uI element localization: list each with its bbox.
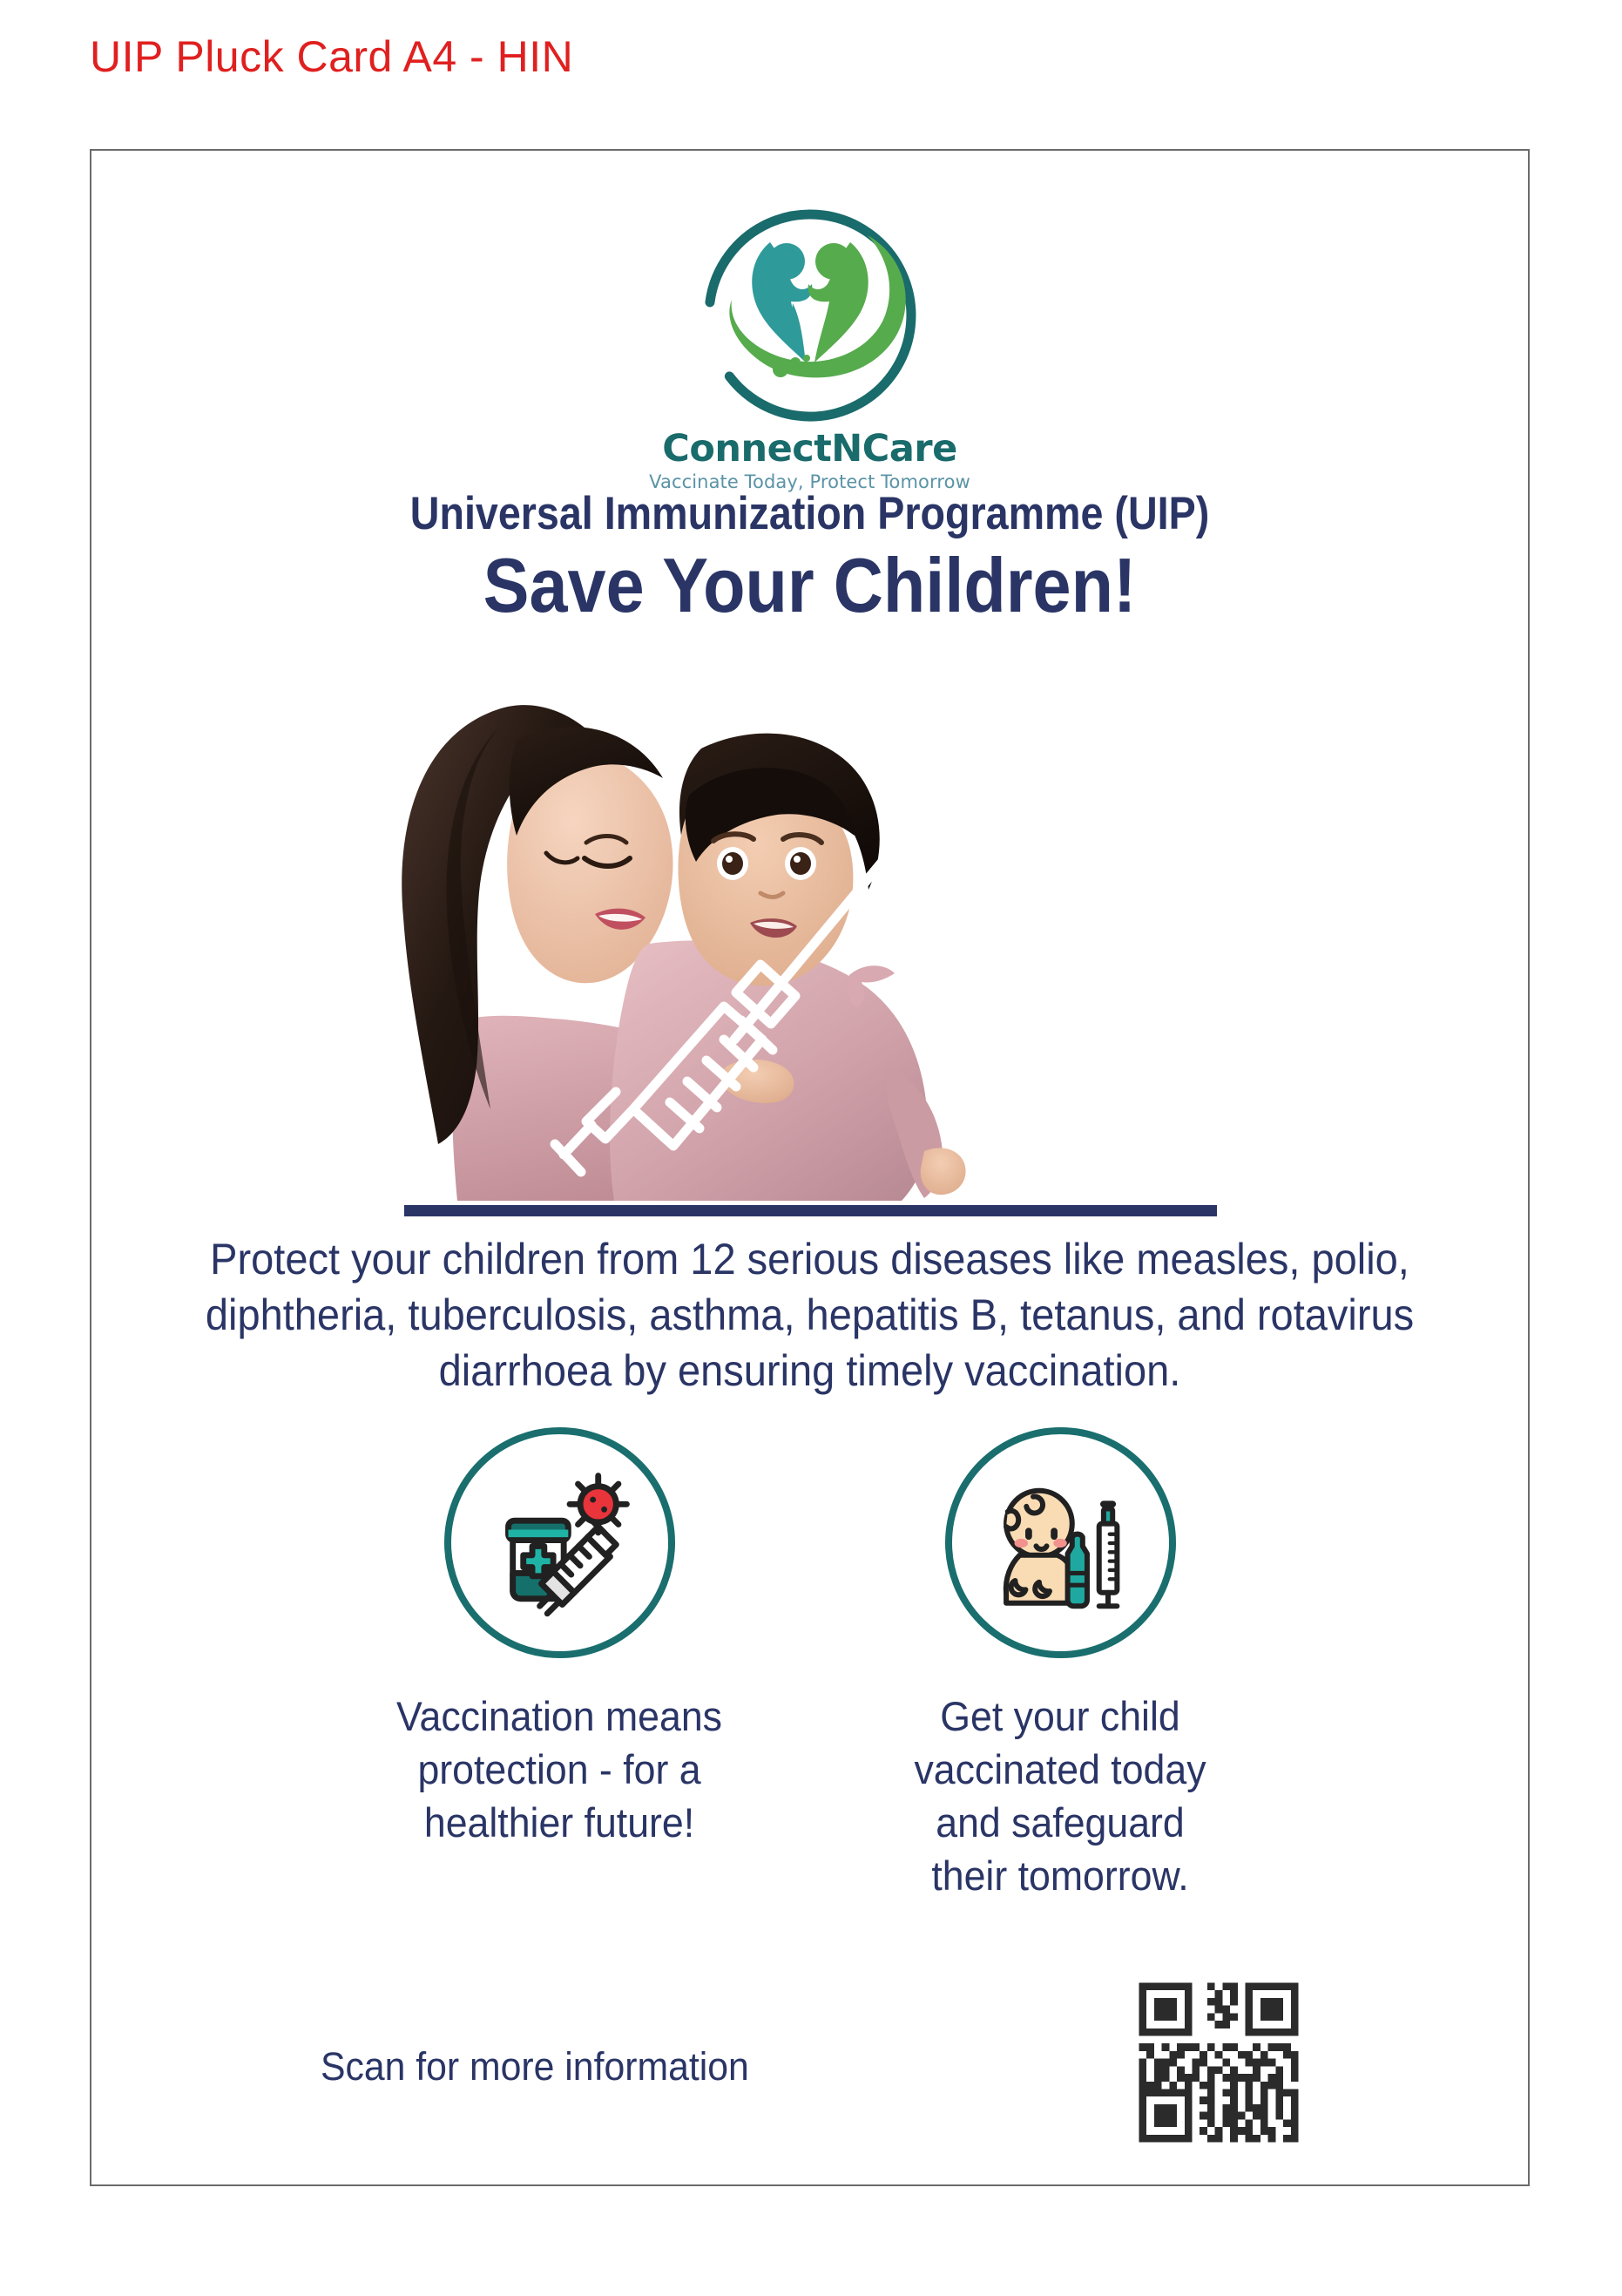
scan-label: Scan for more information xyxy=(321,2044,749,2089)
page-title: UIP Pluck Card A4 - HIN xyxy=(90,33,573,81)
feature-row: Vaccination means protection - for a hea… xyxy=(91,1427,1528,1902)
logo-name: ConnectNCare xyxy=(662,427,956,471)
body-paragraph: Protect your children from 12 serious di… xyxy=(167,1231,1452,1399)
feature-item: Vaccination means protection - for a hea… xyxy=(385,1427,733,1902)
uip-pluck-card: ConnectNCare Vaccinate Today, Protect To… xyxy=(90,149,1530,2186)
feature-caption: Get your child vaccinated today and safe… xyxy=(895,1690,1226,1902)
logo-block: ConnectNCare Vaccinate Today, Protect To… xyxy=(91,199,1528,492)
feature-item: Get your child vaccinated today and safe… xyxy=(886,1427,1234,1902)
section-divider xyxy=(404,1205,1217,1216)
mother-and-baby-photo xyxy=(240,656,1111,1201)
vaccine-vial-syringe-virus-icon xyxy=(444,1427,675,1658)
qr-code[interactable] xyxy=(1124,1968,1314,2157)
headline: Save Your Children! xyxy=(163,541,1456,630)
connectncare-logo-icon xyxy=(679,199,941,432)
programme-title: Universal Immunization Programme (UIP) xyxy=(178,487,1442,540)
scan-row: Scan for more information xyxy=(91,1968,1528,2168)
feature-caption: Vaccination means protection - for a hea… xyxy=(394,1690,725,1849)
baby-vial-syringe-icon xyxy=(945,1427,1176,1658)
